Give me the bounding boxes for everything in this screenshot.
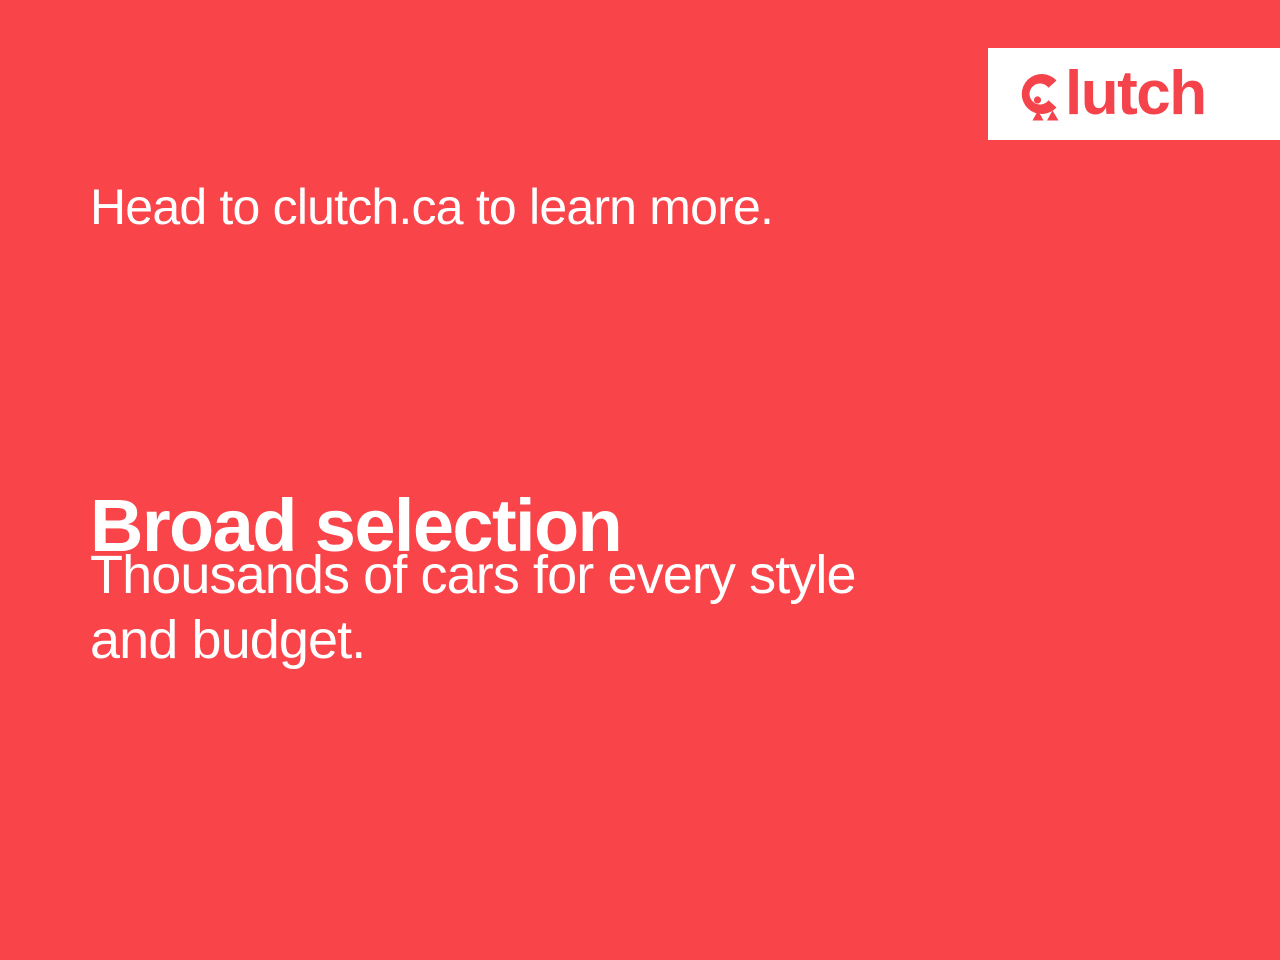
subtitle-line-1: Thousands of cars for every style <box>90 543 1090 608</box>
clutch-wordmark: lutch <box>1065 63 1206 125</box>
subtitle-line-2: and budget. <box>90 608 1090 673</box>
subtitle-text: Thousands of cars for every style and bu… <box>90 543 1090 673</box>
clutch-c-mark-icon <box>1012 66 1064 122</box>
slide-canvas: lutch Head to clutch.ca to learn more. B… <box>0 0 1280 960</box>
eyebrow-text: Head to clutch.ca to learn more. <box>90 180 773 235</box>
logo-plate: lutch <box>988 48 1280 140</box>
clutch-logo[interactable]: lutch <box>1012 63 1206 125</box>
